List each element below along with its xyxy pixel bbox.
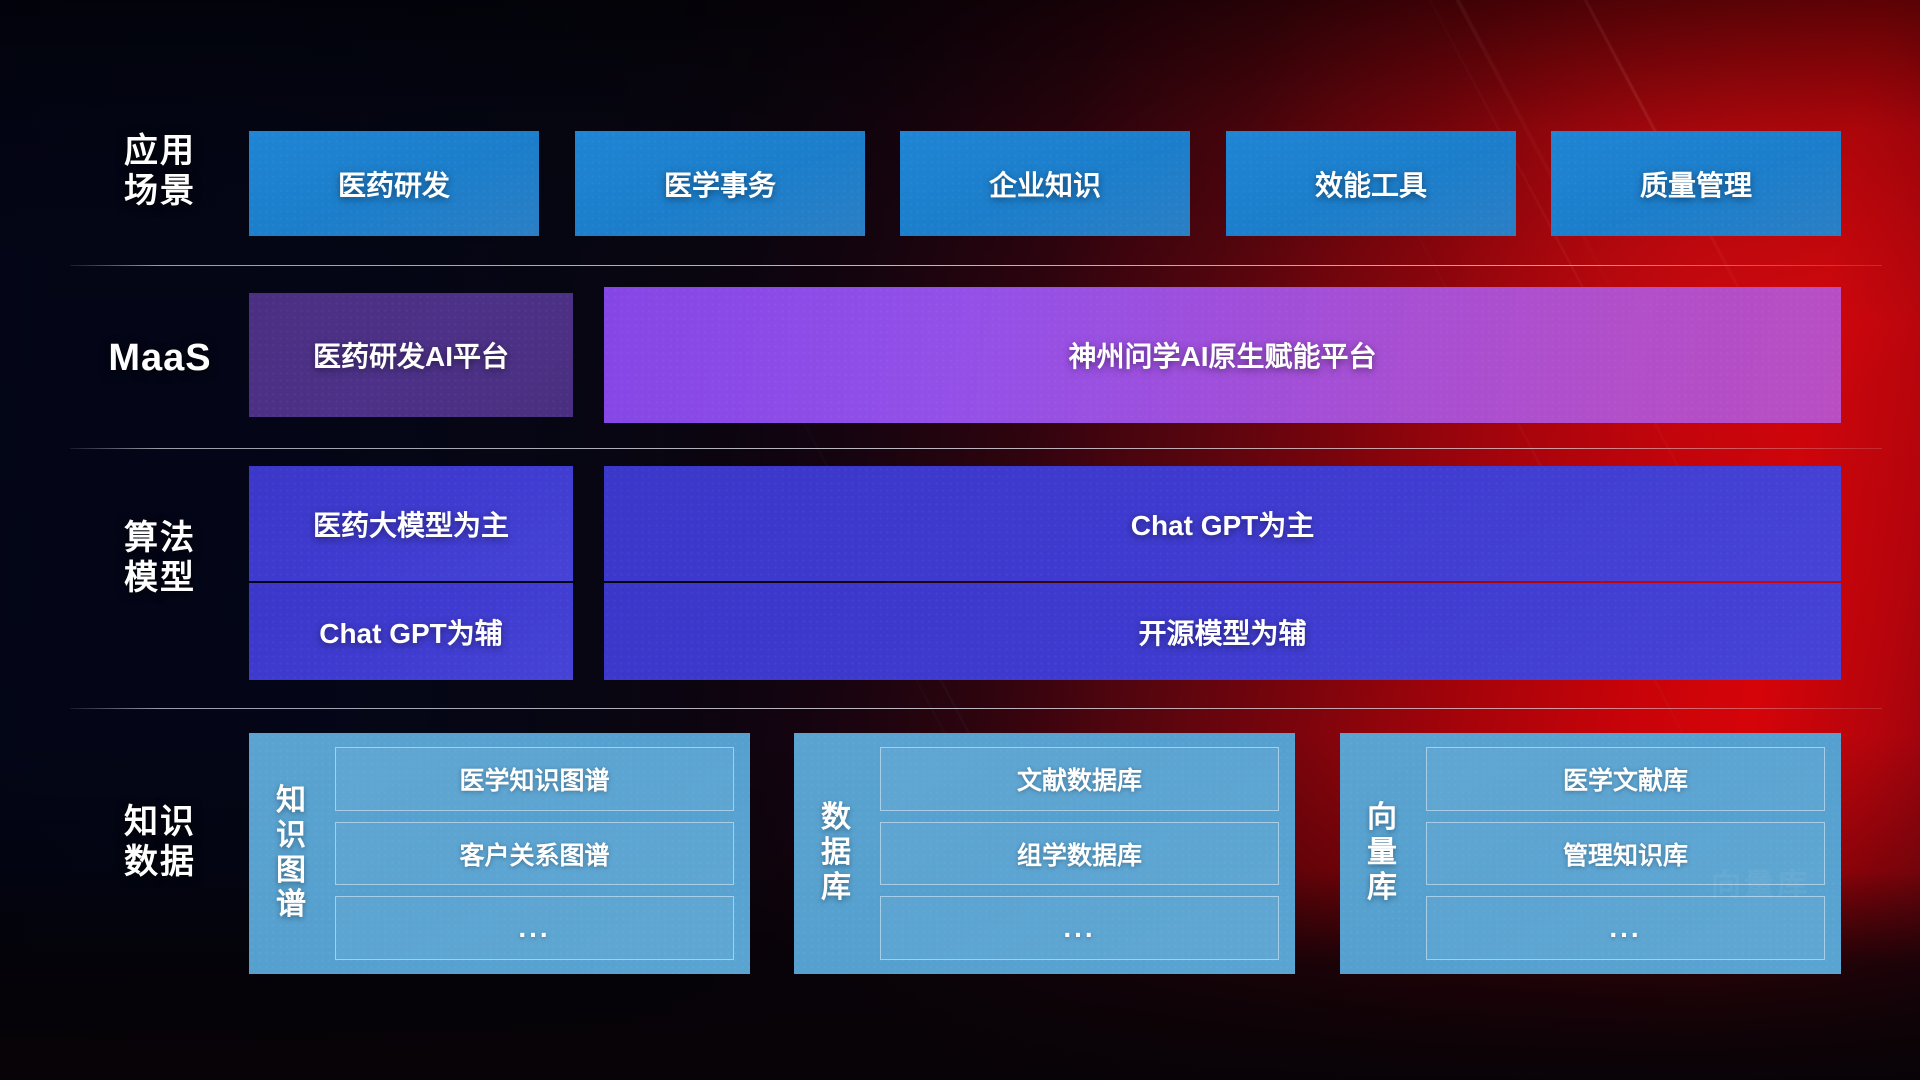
slide-canvas: 应用 场景 医药研发 医学事务 企业知识 效能工具 质量管理 MaaS 医药研发… (0, 0, 1920, 1080)
app-box-label: 质量管理 (1640, 164, 1752, 204)
tier-label-algorithm-model: 算法 模型 (95, 518, 225, 598)
app-box-efficiency-tools[interactable]: 效能工具 (1226, 131, 1516, 236)
knowledge-card-item[interactable]: 组学数据库 (880, 822, 1279, 886)
algo-box-pharma-llm-primary[interactable]: 医药大模型为主 (249, 466, 573, 581)
algo-box-label: 医药大模型为主 (313, 504, 509, 544)
knowledge-card-title: 知识图谱 (263, 747, 319, 960)
algo-box-label: 开源模型为辅 (1138, 612, 1306, 652)
tier-label-knowledge-data: 知识 数据 (95, 802, 225, 882)
app-box-medical-affairs[interactable]: 医学事务 (575, 131, 865, 236)
knowledge-card-title: 数据库 (808, 747, 864, 960)
knowledge-card-item-list: 医学知识图谱 客户关系图谱 ... (335, 747, 734, 960)
knowledge-card-item[interactable]: 文献数据库 (880, 747, 1279, 811)
knowledge-card-item[interactable]: 管理知识库 (1426, 822, 1825, 886)
knowledge-card-knowledge-graph[interactable]: 知识图谱 医学知识图谱 客户关系图谱 ... (249, 733, 750, 974)
divider-after-application (70, 265, 1882, 266)
knowledge-card-item[interactable]: 客户关系图谱 (335, 822, 734, 886)
algo-box-label: Chat GPT为主 (1131, 504, 1315, 544)
app-box-label: 医学事务 (664, 164, 776, 204)
knowledge-card-item[interactable]: 医学文献库 (1426, 747, 1825, 811)
knowledge-card-item-list: 文献数据库 组学数据库 ... (880, 747, 1279, 960)
algo-box-chatgpt-primary[interactable]: Chat GPT为主 (604, 466, 1841, 581)
maas-box-shenzhou-wenxue-platform[interactable]: 神州问学AI原生赋能平台 (604, 287, 1841, 423)
algo-box-chatgpt-secondary[interactable]: Chat GPT为辅 (249, 583, 573, 680)
app-box-label: 企业知识 (989, 164, 1101, 204)
maas-box-label: 神州问学AI原生赋能平台 (1068, 335, 1376, 375)
knowledge-card-item-more[interactable]: ... (880, 896, 1279, 960)
knowledge-card-item[interactable]: 医学知识图谱 (335, 747, 734, 811)
knowledge-card-vector-store[interactable]: 向量库 医学文献库 管理知识库 ... (1340, 733, 1841, 974)
knowledge-card-item-more[interactable]: ... (1426, 896, 1825, 960)
app-box-label: 效能工具 (1315, 164, 1427, 204)
maas-box-label: 医药研发AI平台 (313, 335, 509, 375)
divider-after-algorithm (70, 708, 1882, 709)
tier-label-maas: MaaS (95, 336, 225, 381)
knowledge-card-database[interactable]: 数据库 文献数据库 组学数据库 ... (794, 733, 1295, 974)
app-box-medical-rd[interactable]: 医药研发 (249, 131, 539, 236)
algo-box-label: Chat GPT为辅 (319, 612, 503, 652)
app-box-enterprise-knowledge[interactable]: 企业知识 (900, 131, 1190, 236)
algo-box-opensource-secondary[interactable]: 开源模型为辅 (604, 583, 1841, 680)
knowledge-card-item-list: 医学文献库 管理知识库 ... (1426, 747, 1825, 960)
divider-after-maas (70, 448, 1882, 449)
app-box-label: 医药研发 (338, 164, 450, 204)
maas-box-pharma-ai-platform[interactable]: 医药研发AI平台 (249, 293, 573, 417)
tier-label-application-scenarios: 应用 场景 (95, 131, 225, 211)
app-box-quality-management[interactable]: 质量管理 (1551, 131, 1841, 236)
knowledge-card-item-more[interactable]: ... (335, 896, 734, 960)
knowledge-card-title: 向量库 (1354, 747, 1410, 960)
